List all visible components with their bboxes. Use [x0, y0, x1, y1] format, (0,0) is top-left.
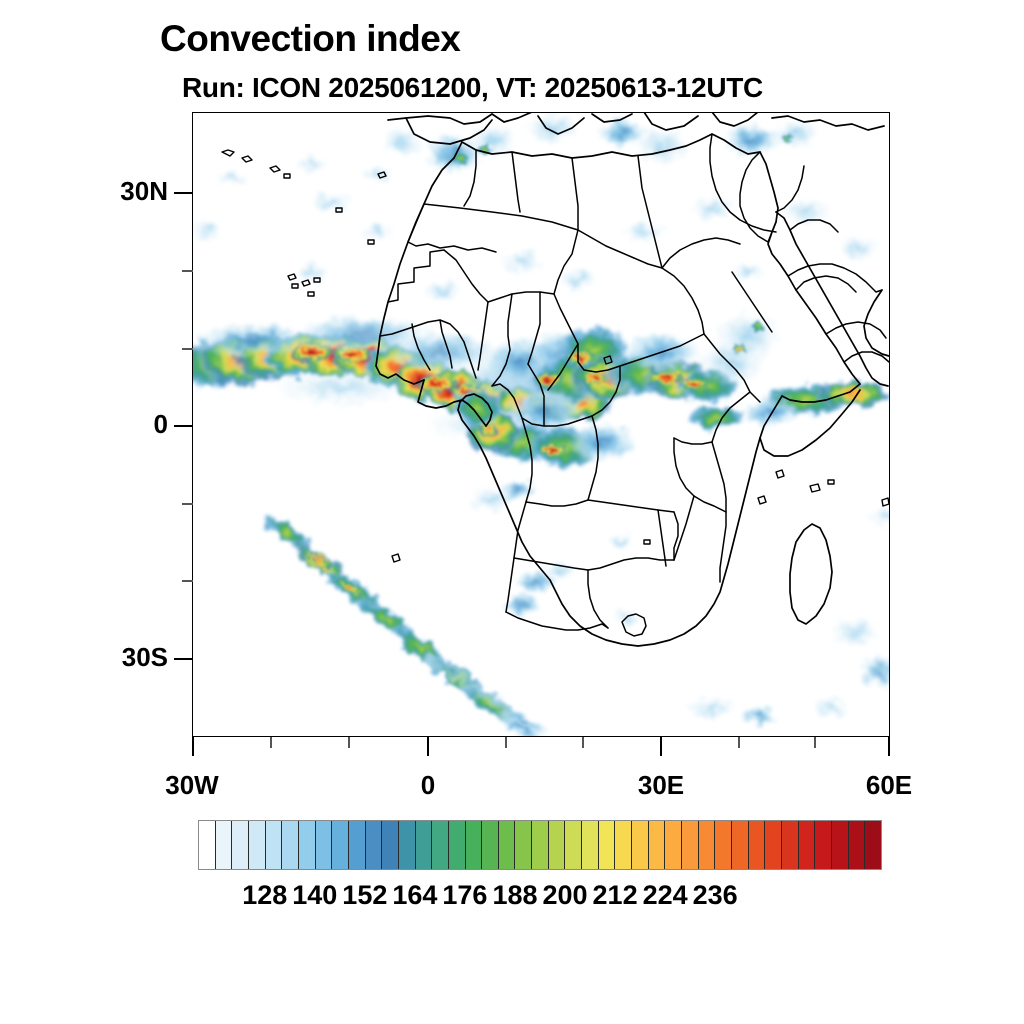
- x-tick-30e: [660, 737, 662, 756]
- colorbar-cell-10: [366, 821, 383, 869]
- colorbar-cell-40: [865, 821, 881, 869]
- colorbar-cell-6: [299, 821, 316, 869]
- y-tick-label-30n: 30N: [60, 176, 168, 207]
- y-tick-minor-25s: [182, 580, 193, 582]
- colorbar-cell-31: [715, 821, 732, 869]
- colorbar-cell-34: [765, 821, 782, 869]
- y-tick-minor-15s: [182, 348, 193, 350]
- colorbar-cell-16: [466, 821, 483, 869]
- colorbar-cell-22: [565, 821, 582, 869]
- colorbar-cell-19: [515, 821, 532, 869]
- colorbar-cell-5: [282, 821, 299, 869]
- y-tick-minor-15s2: [182, 503, 193, 505]
- colorbar-cell-9: [349, 821, 366, 869]
- colorbar-cell-11: [382, 821, 399, 869]
- y-tick-30n: [174, 192, 193, 194]
- x-tick-minor-10w: [348, 737, 350, 748]
- x-tick-label-30w: 30W: [132, 770, 252, 801]
- colorbar-cell-25: [615, 821, 632, 869]
- colorbar-cell-26: [632, 821, 649, 869]
- colorbar-label-152: 152: [342, 880, 387, 911]
- colorbar-tick-labels: 128140152164176188200212224236: [198, 880, 882, 916]
- colorbar-cell-15: [449, 821, 466, 869]
- x-tick-minor-20w: [270, 737, 272, 748]
- colorbar-label-200: 200: [542, 880, 587, 911]
- x-tick-0: [427, 737, 429, 756]
- colorbar-cell-14: [432, 821, 449, 869]
- map-canvas: [192, 112, 890, 737]
- map-plot-area: [192, 112, 890, 737]
- x-tick-30w: [192, 737, 194, 756]
- convection-index-figure: Convection index Run: ICON 2025061200, V…: [0, 0, 1024, 1024]
- colorbar-cell-37: [815, 821, 832, 869]
- colorbar-cell-4: [266, 821, 283, 869]
- x-tick-minor-10e: [505, 737, 507, 748]
- colorbar-label-164: 164: [392, 880, 437, 911]
- colorbar-label-236: 236: [693, 880, 738, 911]
- colorbar-cell-1: [216, 821, 233, 869]
- colorbar-cell-17: [482, 821, 499, 869]
- x-tick-label-30e: 30E: [601, 770, 721, 801]
- x-tick-label-0: 0: [368, 770, 488, 801]
- colorbar-cell-7: [316, 821, 333, 869]
- colorbar-cell-27: [649, 821, 666, 869]
- colorbar-cell-13: [416, 821, 433, 869]
- x-tick-minor-50e: [814, 737, 816, 748]
- x-tick-label-60e: 60E: [829, 770, 949, 801]
- colorbar-cell-39: [849, 821, 866, 869]
- x-tick-minor-20e: [582, 737, 584, 748]
- colorbar-label-140: 140: [292, 880, 337, 911]
- y-tick-minor-15n: [182, 270, 193, 272]
- colorbar-cell-29: [682, 821, 699, 869]
- y-tick-30s: [174, 658, 193, 660]
- x-tick-minor-40e: [738, 737, 740, 748]
- colorbar-label-212: 212: [593, 880, 638, 911]
- colorbar-cell-3: [249, 821, 266, 869]
- colorbar-cell-36: [799, 821, 816, 869]
- colorbar-label-224: 224: [643, 880, 688, 911]
- colorbar-label-188: 188: [492, 880, 537, 911]
- colorbar-cell-32: [732, 821, 749, 869]
- run-valid-time-subtitle: Run: ICON 2025061200, VT: 20250613-12UTC: [182, 72, 763, 104]
- colorbar-label-128: 128: [242, 880, 287, 911]
- colorbar-cell-28: [665, 821, 682, 869]
- colorbar-cell-24: [599, 821, 616, 869]
- colorbar-cell-33: [749, 821, 766, 869]
- y-tick-label-0: 0: [60, 409, 168, 440]
- colorbar-cell-20: [532, 821, 549, 869]
- x-tick-60e: [888, 737, 890, 756]
- colorbar-cell-23: [582, 821, 599, 869]
- page-title: Convection index: [160, 18, 460, 60]
- y-tick-0: [174, 425, 193, 427]
- colorbar-cell-38: [832, 821, 849, 869]
- colorbar-cell-2: [232, 821, 249, 869]
- colorbar-cell-8: [332, 821, 349, 869]
- colorbar-cell-35: [782, 821, 799, 869]
- colorbar-cell-12: [399, 821, 416, 869]
- colorbar-cell-21: [549, 821, 566, 869]
- colorbar[interactable]: [198, 820, 882, 870]
- colorbar-cell-18: [499, 821, 516, 869]
- colorbar-cell-30: [699, 821, 716, 869]
- y-tick-label-30s: 30S: [60, 642, 168, 673]
- colorbar-label-176: 176: [442, 880, 487, 911]
- colorbar-cell-0: [199, 821, 216, 869]
